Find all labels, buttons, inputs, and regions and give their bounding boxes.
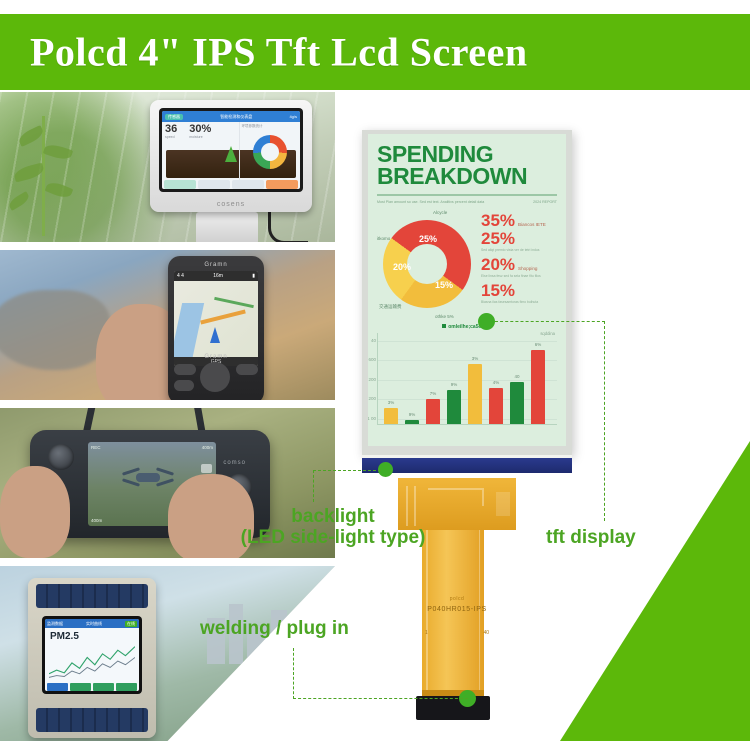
device-brand-bottom: Gramn bbox=[168, 354, 264, 360]
chart-bar-label: 7% bbox=[430, 391, 437, 396]
leader-line-tft-display-h bbox=[495, 321, 605, 322]
rock-shape bbox=[0, 290, 110, 370]
callout-welding-label: welding / plug in bbox=[200, 618, 349, 639]
hud-rec-indicator: REC bbox=[91, 445, 101, 450]
power-cable bbox=[268, 210, 308, 242]
callout-welding: welding / plug in bbox=[200, 618, 349, 639]
gps-status-bar: 4 4 16m ▮ bbox=[174, 271, 258, 281]
leader-line-backlight-h bbox=[313, 470, 381, 471]
donut-slice-label: 25% bbox=[419, 234, 437, 244]
callout-tft-display-label: tft display bbox=[546, 527, 636, 548]
map-main-road bbox=[200, 309, 246, 324]
leader-line-tft-display-v bbox=[604, 321, 605, 521]
screen-header-bar: 监测数据 实时曲线 在线 bbox=[45, 619, 139, 628]
stat-percent: 35% bbox=[481, 212, 515, 229]
keypad-button bbox=[174, 364, 196, 375]
infographic-meta-right: 2024 REPORT bbox=[533, 200, 557, 204]
drone-body bbox=[136, 473, 160, 482]
stat-item: 35% Biancos IETE bbox=[481, 212, 566, 229]
donut-chart bbox=[253, 135, 287, 169]
donut-section: 25% 20% 15% Alcycle itkomo 交通运输费 othke 5… bbox=[377, 210, 557, 322]
lcd-driver-pcb bbox=[362, 455, 572, 473]
photo-divider bbox=[0, 242, 335, 250]
fpc-pin-first: 1 bbox=[425, 630, 428, 636]
line-chart-svg bbox=[49, 643, 135, 681]
photo-agriculture-monitor: 传感器 智能检测和仪表盘 4g/s 36 speed bbox=[0, 92, 335, 242]
infographic-subtitle: Most Plan amount so use. Sed est text. A… bbox=[377, 200, 484, 204]
fpc-connector bbox=[416, 696, 490, 720]
callout-backlight: backlight (LED side-light type) bbox=[218, 506, 448, 549]
chart-bar-label: 6% bbox=[535, 342, 542, 347]
pm25-line-chart bbox=[49, 643, 135, 681]
photo-handheld-gps: Gramn 4 4 16m ▮ bbox=[0, 250, 335, 400]
device-brand-label: cosens bbox=[150, 201, 312, 208]
hand-left bbox=[0, 466, 70, 558]
gps-status-center: 16m bbox=[213, 273, 223, 279]
infographic-meta: Most Plan amount so use. Sed est text. A… bbox=[377, 200, 557, 204]
donut-slice-label: 20% bbox=[393, 262, 411, 272]
stat-item: 15% bbox=[481, 282, 566, 299]
screen-header-left: 监测数据 bbox=[47, 621, 63, 627]
leader-line-backlight-v bbox=[313, 470, 314, 502]
keypad-dpad bbox=[200, 362, 230, 392]
tft-lcd-product: SPENDING BREAKDOWN Most Plan amount so u… bbox=[362, 130, 572, 480]
chart-panel-title: 环境参数统计 bbox=[242, 124, 298, 129]
stat-description: Biasna ilas fasesamtoras fimo bulhuta bbox=[481, 300, 566, 304]
gps-status-left: 4 4 bbox=[177, 273, 184, 279]
donut-note-bottom: othke 5% bbox=[435, 314, 454, 319]
application-photo-strip: 传感器 智能检测和仪表盘 4g/s 36 speed bbox=[0, 92, 335, 741]
screen-header-title: 智能检测和仪表盘 bbox=[220, 114, 252, 120]
title-divider bbox=[377, 194, 557, 196]
screen-button-row bbox=[162, 180, 300, 189]
chart-panel: 环境参数统计 bbox=[239, 122, 300, 180]
control-stick-left[interactable] bbox=[48, 444, 74, 470]
metric-value: 36 bbox=[165, 124, 177, 135]
chart-bar-label: 3% bbox=[388, 400, 395, 405]
fpc-trace bbox=[426, 530, 428, 696]
gps-screen: 4 4 16m ▮ GPS bbox=[174, 271, 258, 366]
pm25-monitoring-station: 监测数据 实时曲线 在线 PM2.5 bbox=[28, 578, 156, 738]
hud-altitude: 400m bbox=[202, 445, 213, 450]
solar-panel-bottom bbox=[36, 708, 148, 732]
screen-header-center: 实时曲线 bbox=[86, 621, 102, 627]
chart-bar: 3% bbox=[468, 364, 482, 424]
device-screen-ui: 传感器 智能检测和仪表盘 4g/s 36 speed bbox=[162, 111, 300, 189]
gps-map bbox=[174, 281, 258, 357]
donut-slice-label: 15% bbox=[435, 280, 453, 290]
photo-divider bbox=[0, 558, 335, 566]
solar-panel-top bbox=[36, 584, 148, 608]
stats-list: 35% Biancos IETE 25% Sed aliqt premio vi… bbox=[481, 212, 566, 309]
photo-pm25-station: 监测数据 实时曲线 在线 PM2.5 bbox=[0, 566, 335, 741]
chart-bar-label: 9% bbox=[451, 382, 458, 387]
donut-note-left: itkomo bbox=[377, 236, 390, 241]
device-brand-label: comso bbox=[223, 460, 246, 466]
screen-header-right: 4g/s bbox=[289, 114, 297, 119]
tree bbox=[253, 701, 283, 727]
screen-header-bar: 传感器 智能检测和仪表盘 4g/s bbox=[162, 111, 300, 122]
screen-button[interactable] bbox=[70, 683, 91, 691]
fpc-brand-label: polcd bbox=[398, 596, 516, 602]
donut-note-bottom-left: 交通运输费 bbox=[379, 304, 402, 310]
marker-dot-tft-display bbox=[478, 313, 495, 330]
screen-button[interactable] bbox=[116, 683, 137, 691]
chart-bar: 40 bbox=[510, 382, 524, 423]
stat-item: 25% bbox=[481, 230, 566, 247]
leader-line-welding-v bbox=[293, 648, 294, 699]
chart-bar: 7% bbox=[426, 399, 440, 424]
chart-bar-label: 9% bbox=[409, 412, 416, 417]
header-banner: Polcd 4" IPS Tft Lcd Screen bbox=[0, 14, 750, 90]
page-title: Polcd 4" IPS Tft Lcd Screen bbox=[30, 29, 528, 76]
agriculture-monitor-device: 传感器 智能检测和仪表盘 4g/s 36 speed bbox=[150, 100, 312, 212]
chart-bar: 9% bbox=[405, 420, 419, 424]
lcd-active-area: SPENDING BREAKDOWN Most Plan amount so u… bbox=[368, 134, 566, 446]
device-screen-bezel: 传感器 智能检测和仪表盘 4g/s 36 speed bbox=[159, 108, 303, 192]
screen-button[interactable] bbox=[47, 683, 68, 691]
device-stand bbox=[196, 212, 258, 242]
stat-percent: 20% bbox=[481, 256, 515, 273]
keypad-button bbox=[236, 364, 258, 375]
legend-swatch-icon bbox=[442, 324, 446, 328]
stat-item: 20% Shopping bbox=[481, 256, 566, 273]
fpc-trace bbox=[479, 530, 481, 696]
chart-ytick-label: 11 00 bbox=[368, 416, 376, 421]
chart-bar-label: 3% bbox=[472, 356, 479, 361]
screen-body: 36 speed 30% moisture bbox=[162, 122, 300, 180]
screen-button bbox=[164, 180, 196, 189]
infographic-title-line2: BREAKDOWN bbox=[377, 166, 557, 188]
screen-status-badge: 在线 bbox=[125, 621, 137, 627]
fpc-narrow-section bbox=[422, 530, 484, 696]
screen-hud: REC 400m bbox=[91, 445, 213, 450]
gps-device: Gramn 4 4 16m ▮ bbox=[168, 256, 264, 400]
stat-percent: 25% bbox=[481, 230, 515, 247]
callout-tft-display: tft display bbox=[546, 527, 636, 548]
green-corner-wedge bbox=[560, 441, 750, 741]
screen-infographic: SPENDING BREAKDOWN Most Plan amount so u… bbox=[368, 134, 566, 446]
station-screen-bezel: 监测数据 实时曲线 在线 PM2.5 bbox=[42, 616, 142, 694]
chart-ytick-label: 600 bbox=[368, 357, 376, 362]
screen-button-row bbox=[45, 683, 139, 691]
chart-ytick-label: 40 bbox=[368, 338, 376, 343]
battery-icon: ▮ bbox=[252, 273, 255, 279]
screen-header-tag: 传感器 bbox=[165, 114, 183, 120]
hud-distance: 400m bbox=[91, 518, 102, 523]
lcd-panel: SPENDING BREAKDOWN Most Plan amount so u… bbox=[362, 130, 572, 455]
chart-annotation-right: sqddina bbox=[540, 331, 555, 336]
plant-stem-icon bbox=[42, 116, 45, 236]
plant-icon bbox=[225, 146, 237, 162]
leader-line-welding-h bbox=[293, 698, 468, 699]
chart-bar: 4% bbox=[489, 388, 503, 424]
screen-button bbox=[266, 180, 298, 189]
pm25-title: PM2.5 bbox=[50, 631, 79, 642]
station-screen-ui: 监测数据 实时曲线 在线 PM2.5 bbox=[45, 619, 139, 691]
drone-icon bbox=[122, 468, 174, 486]
screen-button[interactable] bbox=[93, 683, 114, 691]
chart-bar-label: 4% bbox=[493, 380, 500, 385]
device-brand-label: Gramn bbox=[174, 262, 258, 268]
metric-unit: speed bbox=[165, 135, 177, 139]
callout-backlight-label: backlight bbox=[218, 506, 448, 527]
fpc-trace bbox=[428, 488, 482, 490]
screen-button bbox=[232, 180, 264, 189]
bar-chart: sqddina 0,000 4060020020011 003%9%7%9%3%… bbox=[377, 333, 557, 425]
chart-gridline bbox=[378, 341, 557, 342]
bar-chart-legend: omleilhe;ca5ocion bbox=[377, 324, 557, 330]
stat-description: Sed aliqt premio vista ver de tetri indu… bbox=[481, 248, 566, 252]
stat-label: Biancos IETE bbox=[518, 222, 546, 227]
fpc-trace-pad bbox=[496, 492, 510, 516]
callout-backlight-sublabel: (LED side-light type) bbox=[218, 527, 448, 548]
map-heading-arrow-icon bbox=[210, 327, 220, 343]
stat-description: Else linsa fesz sed fa sela finae fitu f… bbox=[481, 274, 566, 278]
donut-note-top: Alcycle bbox=[433, 210, 447, 215]
map-river bbox=[174, 303, 204, 361]
stat-label: Shopping bbox=[518, 266, 537, 271]
chart-ytick-label: 200 bbox=[368, 377, 376, 382]
chart-bar: 3% bbox=[384, 408, 398, 423]
product-marketing-image: Polcd 4" IPS Tft Lcd Screen bbox=[0, 0, 750, 741]
chart-bar: 6% bbox=[531, 350, 545, 424]
photo-divider bbox=[0, 400, 335, 408]
keypad-button bbox=[174, 380, 194, 391]
fpc-trace bbox=[482, 488, 484, 506]
screen-control-icon[interactable] bbox=[201, 464, 212, 473]
fpc-part-number: P040HR015-IPS bbox=[398, 606, 516, 613]
metric-value: 30% bbox=[189, 124, 211, 135]
screen-button bbox=[198, 180, 230, 189]
metrics-panel: 36 speed 30% moisture bbox=[162, 122, 239, 180]
chart-ytick-label: 200 bbox=[368, 396, 376, 401]
stat-percent: 15% bbox=[481, 282, 515, 299]
chart-bar: 9% bbox=[447, 390, 461, 424]
fpc-pin-last: 40 bbox=[483, 630, 489, 636]
chart-bar-label: 40 bbox=[514, 374, 519, 379]
gps-keypad bbox=[174, 362, 258, 398]
metric-unit: moisture bbox=[189, 135, 211, 139]
map-trail bbox=[214, 297, 254, 308]
